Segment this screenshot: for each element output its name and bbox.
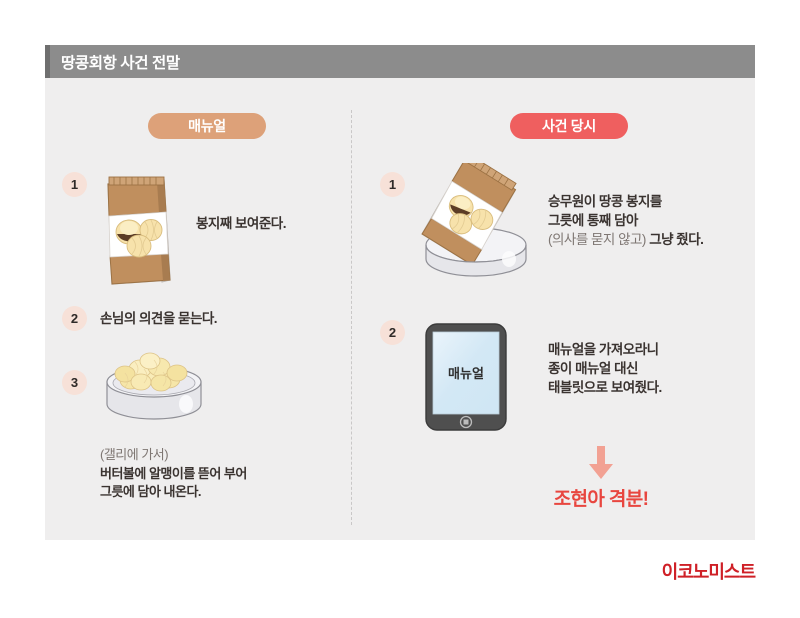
arrow-down-icon <box>588 446 614 480</box>
peanut-bowl-illustration <box>95 352 213 437</box>
tablet-illustration: 매뉴얼 <box>424 322 508 437</box>
left-step-2-number: 2 <box>62 306 87 331</box>
left-caption-line2: 버터볼에 알맹이를 뜯어 부어 <box>100 466 247 481</box>
bag-in-bowl-illustration <box>414 163 540 292</box>
page-title: 땅콩회항 사건 전말 <box>50 51 180 73</box>
badge-incident: 사건 당시 <box>510 113 628 139</box>
right-step-2-text: 매뉴얼을 가져오라니 종이 매뉴얼 대신 태블릿으로 보여줬다. <box>548 340 662 397</box>
publisher-logo: 이코노미스트 <box>662 558 755 584</box>
right-step-1-line1: 승무원이 땅콩 봉지를 <box>548 194 662 209</box>
right-step-1-text: 승무원이 땅콩 봉지를 그릇에 통째 담아 (의사를 묻지 않고) 그냥 줬다. <box>548 192 703 249</box>
conclusion-text: 조현아 격분! <box>512 484 690 511</box>
left-caption-line3: 그릇에 담아 내온다. <box>100 484 201 499</box>
right-step-2-line2: 종이 매뉴얼 대신 <box>548 361 638 376</box>
left-step-3-number: 3 <box>62 370 87 395</box>
column-divider <box>351 110 352 525</box>
badge-manual: 매뉴얼 <box>148 113 266 139</box>
left-step-2-text: 손님의 의견을 묻는다. <box>100 309 217 328</box>
title-bar: 땅콩회항 사건 전말 <box>45 45 755 78</box>
right-step-2-line3: 태블릿으로 보여줬다. <box>548 380 662 395</box>
peanut-bag-illustration <box>98 168 180 293</box>
left-step-1-text: 봉지째 보여준다. <box>196 214 286 233</box>
infographic-root: 땅콩회항 사건 전말 매뉴얼 1 <box>0 0 800 618</box>
right-step-1-number: 1 <box>380 172 405 197</box>
right-step-1-line2: 그릇에 통째 담아 <box>548 213 638 228</box>
left-caption-line1: (갤리에 가서) <box>100 447 168 462</box>
right-step-1-line3-bold: 그냥 줬다. <box>646 232 703 247</box>
tablet-screen-label: 매뉴얼 <box>448 366 484 381</box>
right-step-2-line1: 매뉴얼을 가져오라니 <box>548 342 659 357</box>
left-caption: (갤리에 가서) 버터볼에 알맹이를 뜯어 부어 그릇에 담아 내온다. <box>100 446 247 502</box>
left-step-1-number: 1 <box>62 172 87 197</box>
right-step-1-line3-soft: (의사를 묻지 않고) <box>548 232 646 247</box>
right-step-2-number: 2 <box>380 320 405 345</box>
